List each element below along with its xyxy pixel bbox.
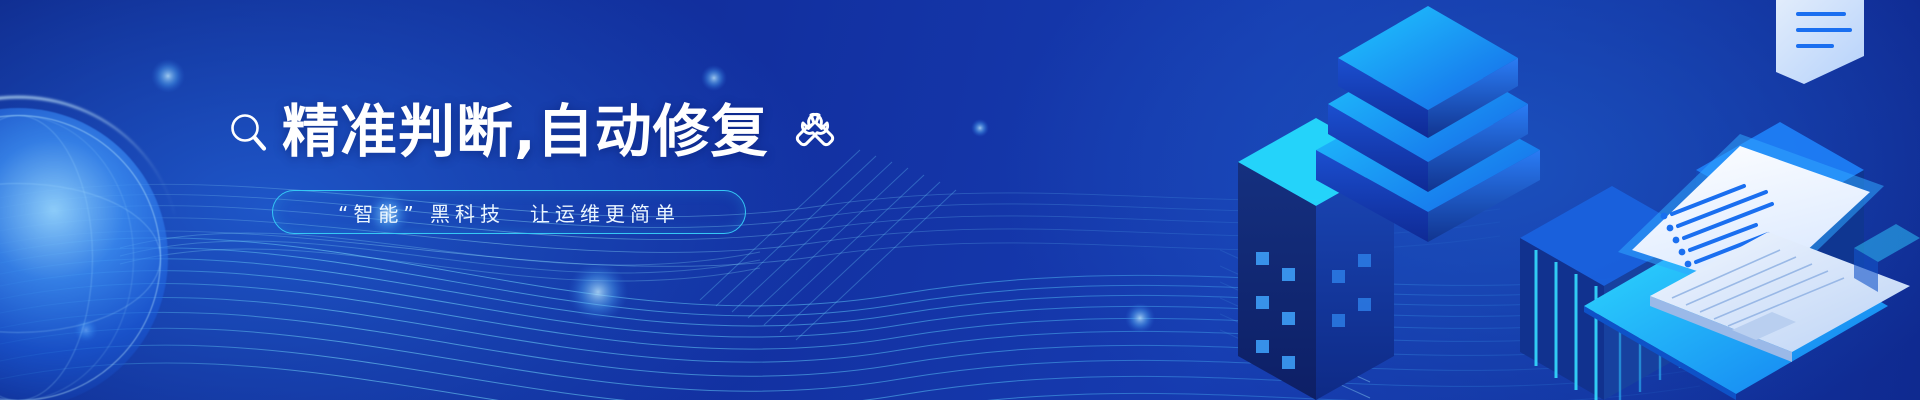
wrench-icon <box>789 106 841 158</box>
globe-glow-arc <box>0 61 214 400</box>
headline-row: 精准判断,自动修复 <box>228 96 868 168</box>
page-title: 精准判断,自动修复 <box>282 104 769 161</box>
subtitle-pill: “智能” 黑科技 让运维更简单 <box>272 190 746 234</box>
promo-banner: 精准判断,自动修复 “智能” 黑科技 让运维更简单 <box>0 0 1920 400</box>
magnifier-icon <box>228 110 268 154</box>
document-card <box>1776 0 1864 84</box>
isometric-city-scene <box>1220 0 1920 400</box>
banner-text-block: 精准判断,自动修复 “智能” 黑科技 让运维更简单 <box>228 96 868 234</box>
subtitle-text: “智能” 黑科技 让运维更简单 <box>338 198 680 227</box>
